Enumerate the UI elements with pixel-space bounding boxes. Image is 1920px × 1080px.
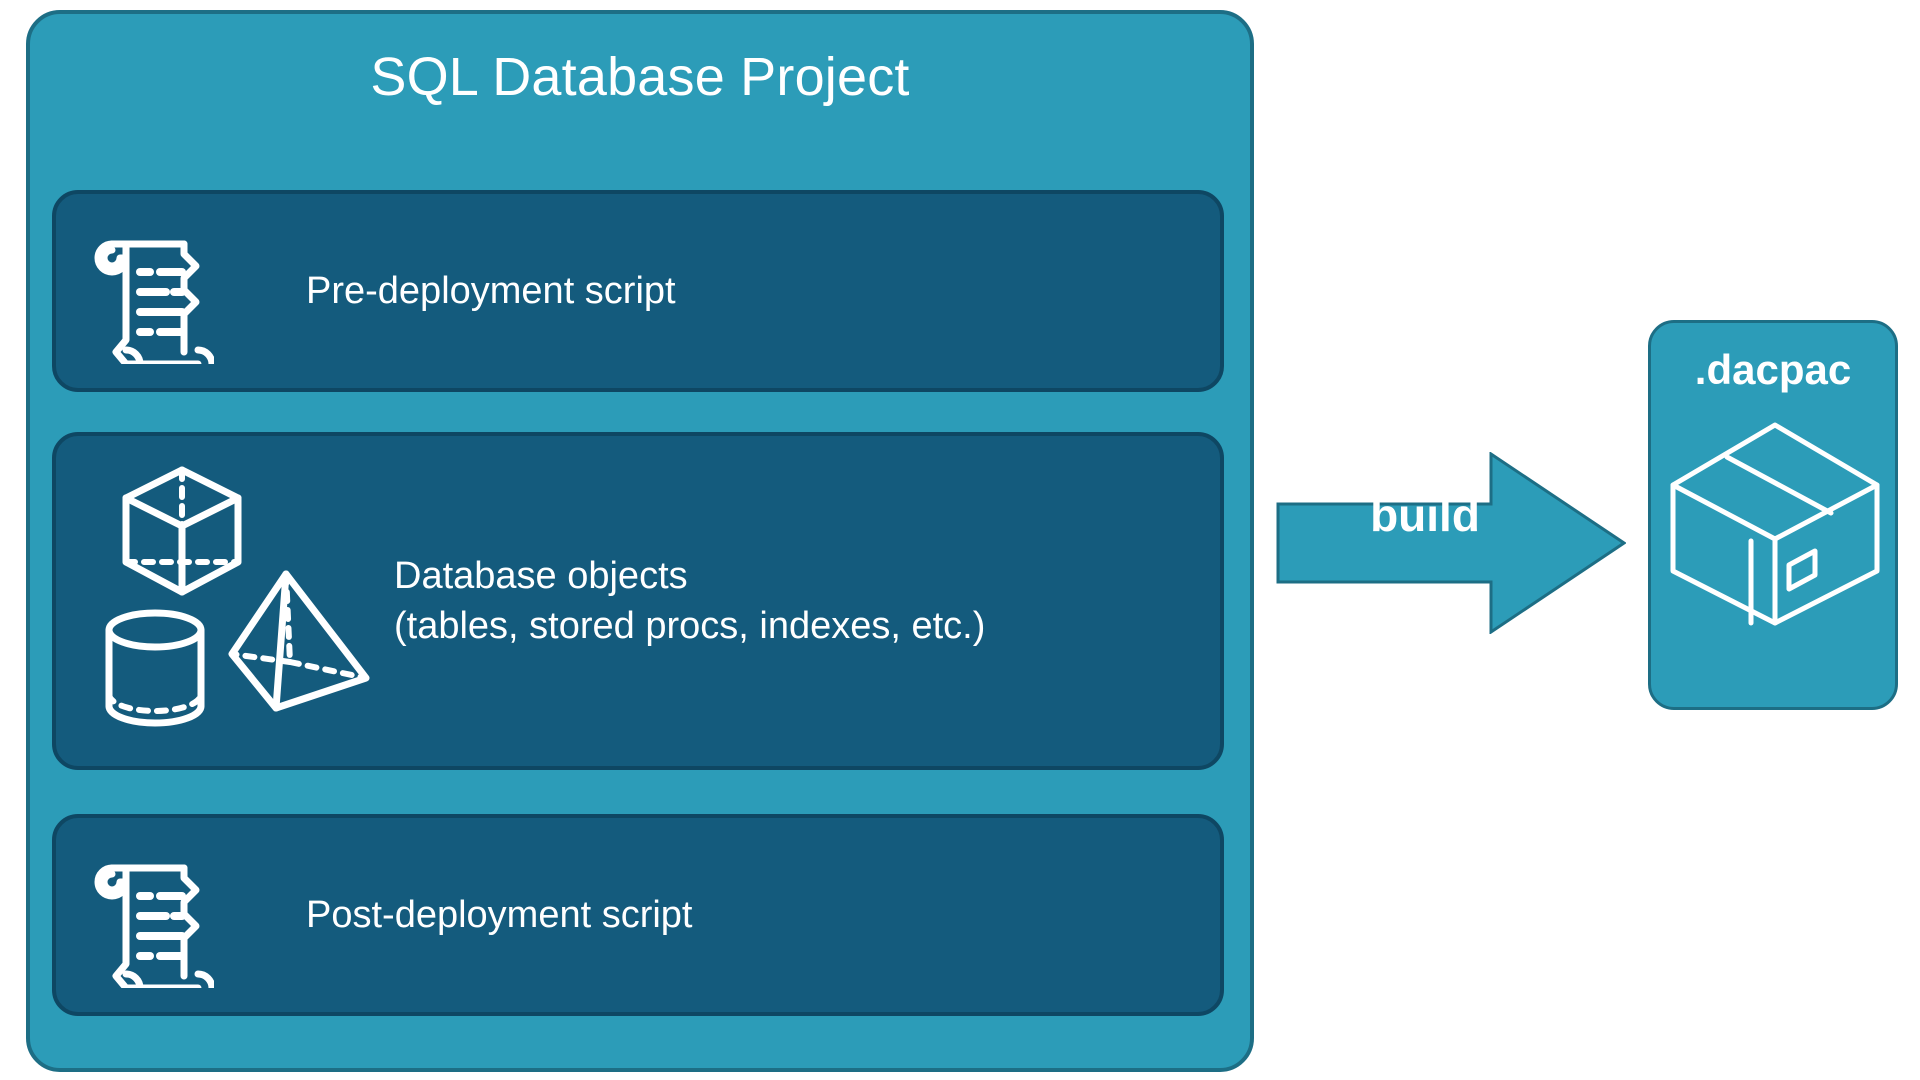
dacpac-output-box[interactable]: .dacpac <box>1648 320 1898 710</box>
page-title: SQL Database Project <box>30 50 1250 104</box>
card-post-label: Post-deployment script <box>306 890 693 940</box>
card-post-icons <box>86 818 214 1012</box>
pyramid-icon <box>224 566 374 723</box>
package-box-icon <box>1665 419 1885 634</box>
diagram-canvas: SQL Database Project <box>0 0 1920 1080</box>
scroll-icon <box>86 214 214 369</box>
card-objects-label: Database objects (tables, stored procs, … <box>394 551 985 651</box>
card-objects-icons <box>96 458 386 752</box>
build-label: build <box>1320 492 1530 538</box>
scroll-icon <box>86 838 214 993</box>
cylinder-icon <box>100 606 210 737</box>
card-pre-deployment-script[interactable]: Pre-deployment script <box>52 190 1224 392</box>
arrow-right-icon <box>1276 452 1626 634</box>
dacpac-label: .dacpac <box>1651 349 1895 391</box>
card-pre-icons <box>86 194 214 388</box>
sql-database-project-container: SQL Database Project <box>26 10 1254 1072</box>
card-database-objects[interactable]: Database objects (tables, stored procs, … <box>52 432 1224 770</box>
card-post-deployment-script[interactable]: Post-deployment script <box>52 814 1224 1016</box>
card-pre-label: Pre-deployment script <box>306 266 676 316</box>
